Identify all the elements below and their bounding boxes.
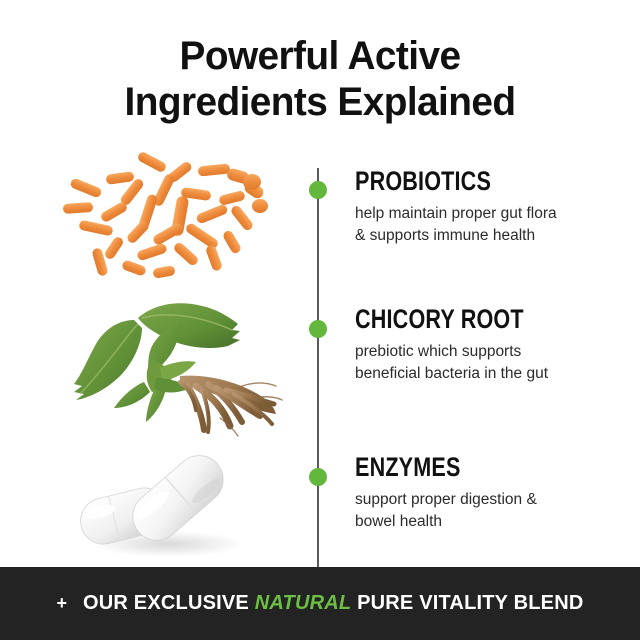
item-description-enzymes: support proper digestion & bowel health: [355, 489, 570, 533]
plus-icon: +: [56, 594, 67, 612]
white-capsules-icon: [56, 440, 296, 567]
list-item: ENZYMES support proper digestion & bowel…: [0, 440, 640, 567]
infographic-page: Powerful Active Ingredients Explained: [0, 0, 640, 640]
item-description-probiotics: help maintain proper gut flora & support…: [355, 203, 570, 247]
page-title-line-2: Ingredients Explained: [10, 79, 631, 125]
footer-banner: + OUR EXCLUSIVE NATURAL PURE VITALITY BL…: [0, 567, 640, 640]
item-text-block: PROBIOTICS help maintain proper gut flor…: [355, 166, 605, 247]
probiotic-bacteria-rods-icon: [56, 150, 296, 290]
item-heading-enzymes: ENZYMES: [355, 452, 555, 482]
footer-text-prefix: OUR EXCLUSIVE: [83, 592, 249, 615]
timeline-dot: [309, 468, 327, 486]
timeline-dot: [309, 320, 327, 338]
footer-text-suffix: PURE VITALITY BLEND: [357, 592, 583, 615]
timeline-dot: [309, 181, 327, 199]
ingredients-list: PROBIOTICS help maintain proper gut flor…: [0, 150, 640, 567]
item-description-chicory-root: prebiotic which supports beneficial bact…: [355, 341, 570, 385]
item-heading-chicory-root: CHICORY ROOT: [355, 304, 555, 334]
page-title: Powerful Active Ingredients Explained: [0, 33, 640, 125]
item-text-block: CHICORY ROOT prebiotic which supports be…: [355, 304, 605, 385]
page-title-line-1: Powerful Active: [10, 33, 631, 79]
list-item: PROBIOTICS help maintain proper gut flor…: [0, 150, 640, 290]
chicory-root-icon: [56, 290, 296, 440]
footer-text-accent: NATURAL: [255, 592, 352, 615]
list-item: CHICORY ROOT prebiotic which supports be…: [0, 290, 640, 440]
item-text-block: ENZYMES support proper digestion & bowel…: [355, 452, 605, 533]
item-heading-probiotics: PROBIOTICS: [355, 166, 555, 196]
